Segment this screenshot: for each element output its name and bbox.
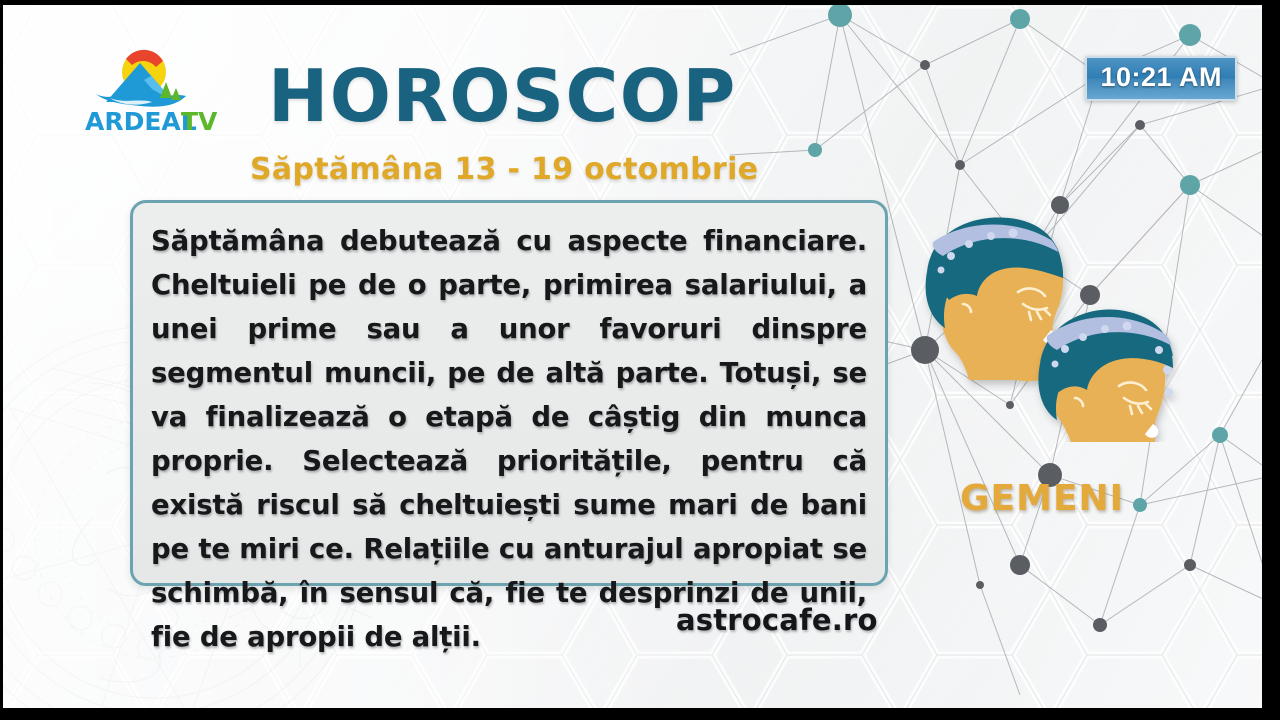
page-title: HOROSCOP: [268, 60, 737, 132]
horoscope-panel: Săptămâna debutează cu aspecte financiar…: [130, 200, 888, 586]
ardeal-tv-logo[interactable]: ARDEAL TV: [48, 46, 234, 138]
page-subtitle: Săptămâna 13 - 19 octombrie: [250, 152, 758, 187]
logo-tree-icon: [160, 82, 181, 100]
letterbox-bar-right: [1262, 0, 1280, 720]
letterbox-bar-left: [0, 0, 3, 720]
logo-text-ardeal: ARDEAL: [85, 107, 197, 136]
zodiac-sign-label: GEMENI: [960, 478, 1124, 519]
horoscope-body-text: Săptămâna debutează cu aspecte financiar…: [151, 219, 867, 659]
clock-time: 10:21 AM: [1085, 56, 1237, 101]
letterbox-bar-bottom: [0, 708, 1280, 720]
logo-mountain-icon: [96, 63, 186, 107]
source-website: astrocafe.ro: [676, 603, 878, 637]
logo-text-tv: TV: [181, 107, 218, 136]
gemini-twin-faces-icon: [905, 212, 1205, 442]
broadcast-screen: ARDEAL TV HOROSCOP Săptămâna 13 - 19 oct…: [0, 0, 1280, 720]
gemini-head-right: [1038, 309, 1173, 442]
letterbox-bar-top: [0, 0, 1280, 5]
